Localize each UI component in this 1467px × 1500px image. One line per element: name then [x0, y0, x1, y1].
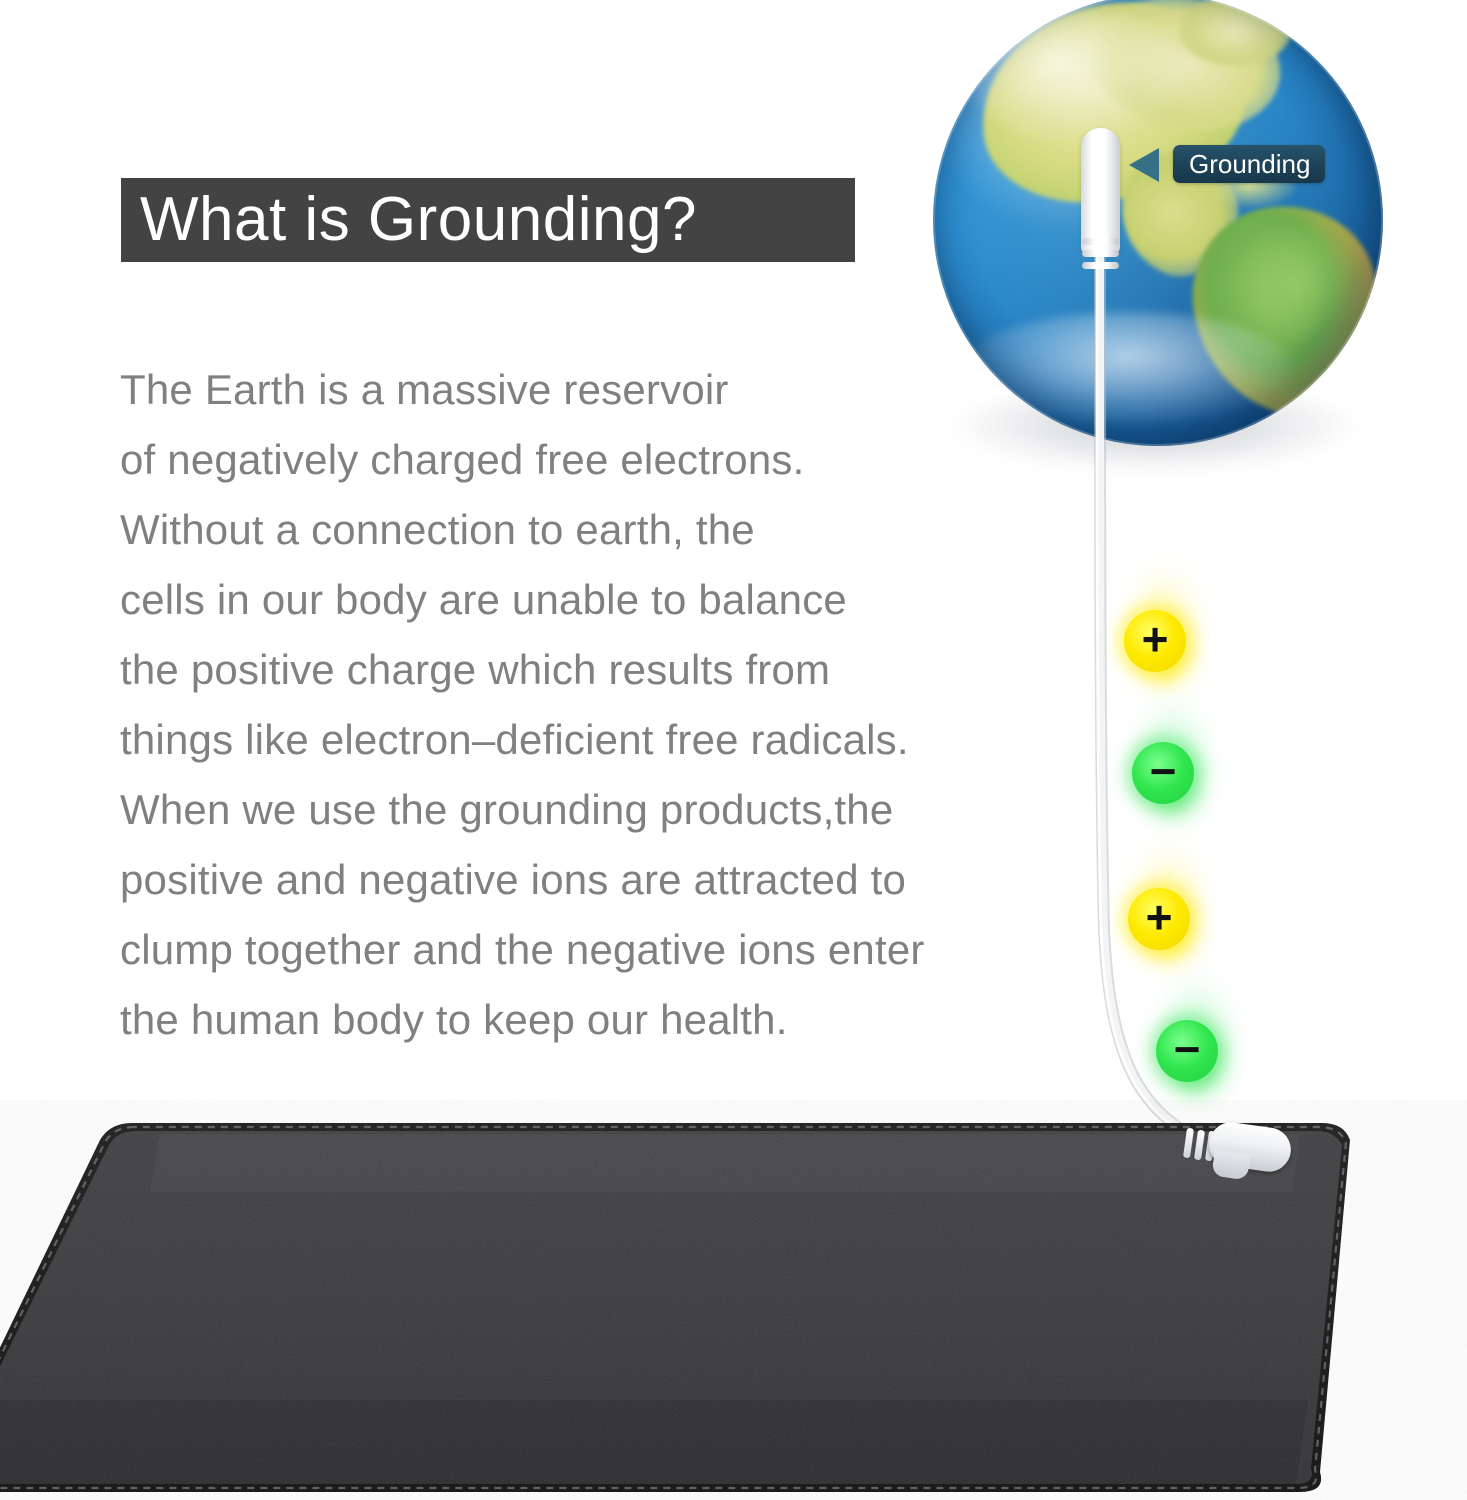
ion-positive: + [1124, 610, 1186, 672]
page-title: What is Grounding? [121, 189, 697, 251]
ion-sign: + [1142, 616, 1169, 662]
grounding-label-tag: Grounding [1173, 145, 1325, 183]
body-line: When we use the grounding products,the [120, 775, 1095, 845]
plug-strain-rib [1082, 262, 1119, 269]
body-line: positive and negative ions are attracted… [120, 845, 1095, 915]
page-title-banner: What is Grounding? [121, 178, 855, 262]
earth-globe-illustration [925, 0, 1383, 466]
earth-globe-icon [933, 0, 1383, 446]
globe-rim-shading [933, 0, 1383, 446]
ion-positive: + [1128, 888, 1190, 950]
grounding-label-text: Grounding [1189, 151, 1310, 177]
body-line: cells in our body are unable to balance [120, 565, 1095, 635]
infographic-page: What is Grounding? The Earth is a massiv… [0, 0, 1467, 1500]
grounding-pointer-icon [1129, 148, 1159, 182]
plug-strain-rib [1082, 250, 1119, 257]
ion-negative: − [1156, 1020, 1218, 1082]
cable-plug-icon [1081, 128, 1120, 253]
body-line: the positive charge which results from [120, 635, 1095, 705]
ion-sign: − [1150, 748, 1177, 794]
body-line: clump together and the negative ions ent… [120, 915, 1095, 985]
body-line: things like electron–deficient free radi… [120, 705, 1095, 775]
body-line: Without a connection to earth, the [120, 495, 1095, 565]
ion-negative: − [1132, 742, 1194, 804]
plug-strain-rib [1082, 238, 1119, 245]
body-line: the human body to keep our health. [120, 985, 1095, 1055]
ion-sign: − [1174, 1026, 1201, 1072]
ion-sign: + [1146, 894, 1173, 940]
